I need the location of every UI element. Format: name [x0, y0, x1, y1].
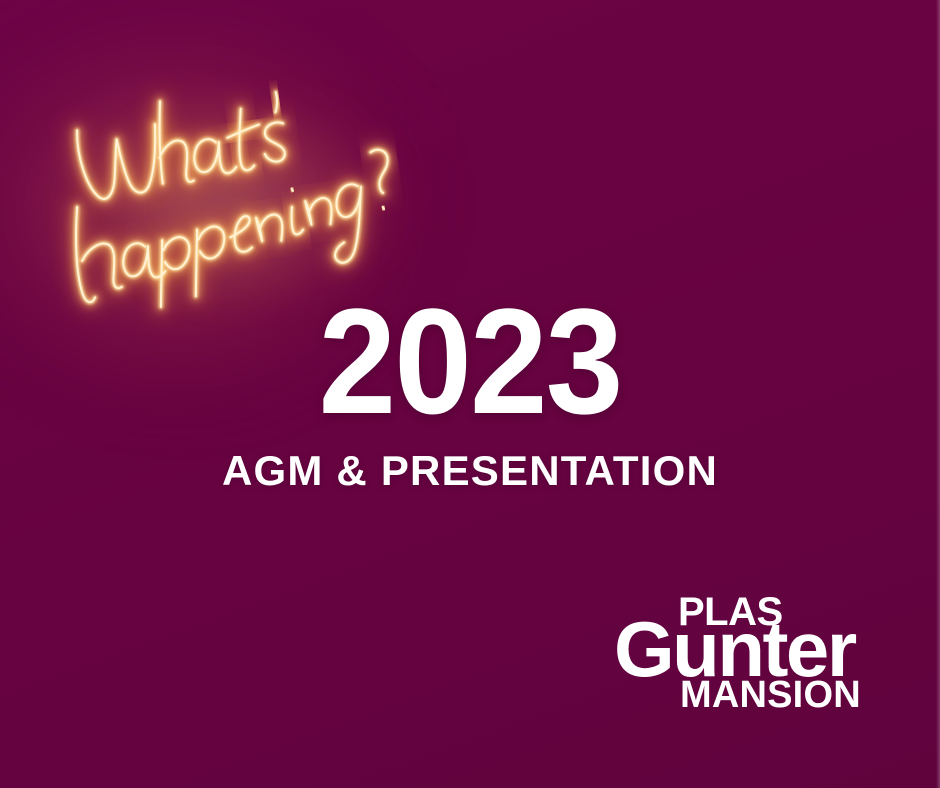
- logo-word-mansion: MANSION: [680, 676, 861, 714]
- event-poster: What's happening?: [0, 0, 940, 788]
- plas-gunter-mansion-logo: PLAS Gunter MANSION: [604, 592, 872, 716]
- event-year: 2023: [33, 286, 907, 436]
- event-subtitle: AGM & PRESENTATION: [0, 450, 940, 492]
